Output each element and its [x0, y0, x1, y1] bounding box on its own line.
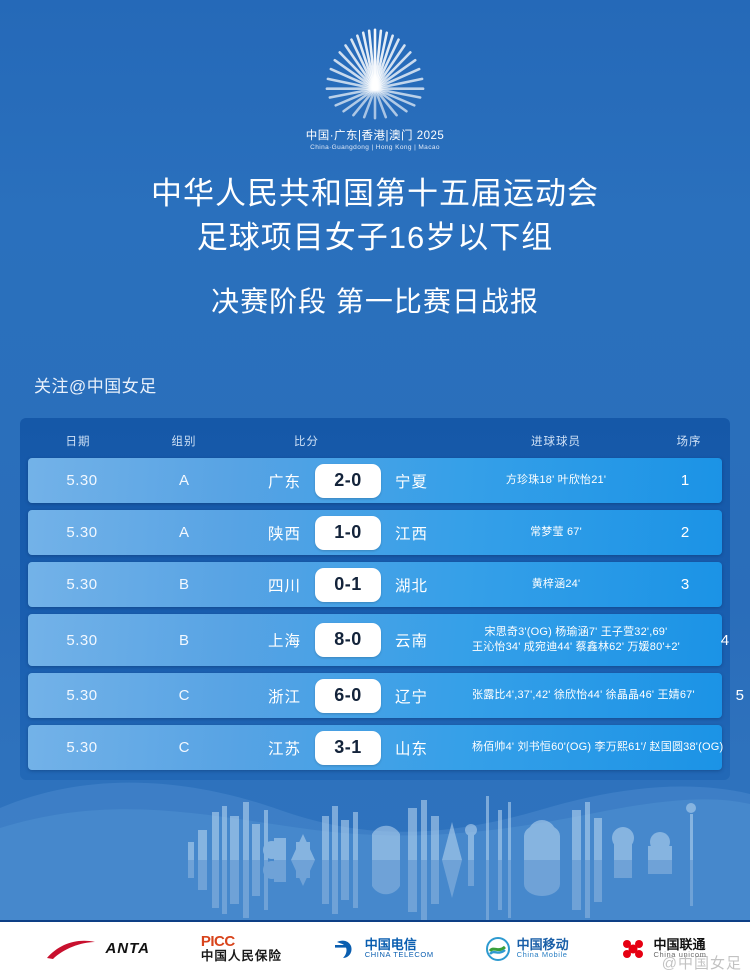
sponsor-bar: ANTA PICC 中国人民保险 中国电信 CHINA TELECOM — [0, 920, 750, 975]
scorer-line: 黄梓涵24' — [472, 577, 640, 592]
fan-burst-emblem-icon — [316, 18, 434, 126]
away-team: 辽宁 — [381, 685, 457, 707]
cell-date: 5.30 — [28, 632, 136, 649]
score-pill: 8-0 — [315, 623, 381, 657]
cell-group: B — [136, 632, 232, 649]
cell-date: 5.30 — [28, 687, 136, 704]
title-line-1: 中华人民共和国第十五届运动会 — [0, 172, 750, 216]
cell-date: 5.30 — [28, 472, 136, 489]
china-unicom-logo-icon — [619, 936, 647, 962]
table-row[interactable]: 5.30 C 江苏 3-1 山东 杨佰帅4' 刘书恒60'(OG) 李万熙61'… — [28, 725, 722, 770]
sponsor-picc: PICC 中国人民保险 — [201, 934, 282, 963]
header-group: 组别 — [136, 433, 232, 449]
cell-order: 1 — [648, 472, 722, 489]
poster-root: 中国·广东|香港|澳门 2025 China·Guangdong | Hong … — [0, 0, 750, 975]
cell-order: 6 — [731, 739, 750, 756]
sponsor-china-mobile: 中国移动 China Mobile — [485, 936, 569, 962]
cell-players: 黄梓涵24' — [464, 577, 648, 592]
home-team: 四川 — [239, 574, 315, 596]
scorer-line: 方珍珠18' 叶欣怡21' — [472, 473, 640, 488]
score-pill: 0-1 — [315, 568, 381, 602]
sponsor-china-telecom: 中国电信 CHINA TELECOM — [333, 936, 434, 962]
table-body: 5.30 A 广东 2-0 宁夏 方珍珠18' 叶欣怡21' 1 5.30 A … — [20, 458, 730, 770]
cell-date: 5.30 — [28, 576, 136, 593]
away-team: 宁夏 — [381, 470, 457, 492]
title-line-2: 足球项目女子16岁以下组 — [0, 216, 750, 260]
table-row[interactable]: 5.30 B 四川 0-1 湖北 黄梓涵24' 3 — [28, 562, 722, 607]
results-panel: 日期 组别 比分 进球球员 场序 5.30 A 广东 2-0 宁夏 方珍珠18'… — [20, 418, 730, 780]
cell-group: C — [136, 739, 232, 756]
cell-group: B — [136, 576, 232, 593]
emblem-cn-text: 中国·广东|香港|澳门 2025 — [306, 127, 445, 143]
cell-players: 常梦莹 67' — [464, 525, 648, 540]
sponsor-picc-label: 中国人民保险 — [201, 950, 282, 963]
cell-score: 四川 0-1 湖北 — [232, 568, 464, 602]
sponsor-unicom-en: China unicom — [653, 951, 706, 959]
cell-score: 浙江 6-0 辽宁 — [232, 679, 464, 713]
score-pill: 2-0 — [315, 464, 381, 498]
scorer-line: 王沁怡34' 成宛迪44' 蔡鑫林62' 万媛80'+2' — [472, 640, 680, 655]
score-pill: 6-0 — [315, 679, 381, 713]
follow-handle: 关注@中国女足 — [34, 372, 157, 397]
table-row[interactable]: 5.30 C 浙江 6-0 辽宁 张露比4',37',42' 徐欣怡44' 徐晶… — [28, 673, 722, 718]
sponsor-anta: ANTA — [43, 936, 150, 962]
cell-score: 上海 8-0 云南 — [232, 623, 464, 657]
anta-logo-icon — [43, 936, 99, 962]
emblem-en-text: China·Guangdong | Hong Kong | Macao — [310, 144, 440, 151]
cell-group: A — [136, 524, 232, 541]
home-team: 浙江 — [239, 685, 315, 707]
cell-score: 陕西 1-0 江西 — [232, 516, 464, 550]
header-date: 日期 — [20, 433, 136, 449]
cell-players: 宋思奇3'(OG) 杨瑜涵7' 王子萱32',69' 王沁怡34' 成宛迪44'… — [464, 625, 688, 655]
header-score: 比分 — [232, 433, 464, 449]
games-emblem: 中国·广东|香港|澳门 2025 China·Guangdong | Hong … — [0, 18, 750, 151]
scorer-line: 常梦莹 67' — [472, 525, 640, 540]
home-team: 上海 — [239, 629, 315, 651]
score-pill: 1-0 — [315, 516, 381, 550]
table-row[interactable]: 5.30 A 广东 2-0 宁夏 方珍珠18' 叶欣怡21' 1 — [28, 458, 722, 503]
sponsor-telecom-cn: 中国电信 — [365, 938, 434, 952]
away-team: 湖北 — [381, 574, 457, 596]
cell-date: 5.30 — [28, 739, 136, 756]
sponsor-mobile-en: China Mobile — [517, 951, 569, 959]
away-team: 江西 — [381, 522, 457, 544]
home-team: 陕西 — [239, 522, 315, 544]
table-header-row: 日期 组别 比分 进球球员 场序 — [20, 424, 730, 458]
cell-group: C — [136, 687, 232, 704]
sponsor-unicom-cn: 中国联通 — [653, 938, 706, 952]
picc-logo-icon: PICC — [201, 934, 282, 950]
scorer-line: 张露比4',37',42' 徐欣怡44' 徐晶晶46' 王婧67' — [472, 688, 695, 703]
cell-players: 张露比4',37',42' 徐欣怡44' 徐晶晶46' 王婧67' — [464, 688, 703, 703]
cell-score: 广东 2-0 宁夏 — [232, 464, 464, 498]
home-team: 广东 — [239, 470, 315, 492]
home-team: 江苏 — [239, 737, 315, 759]
china-telecom-logo-icon — [333, 936, 359, 962]
scorer-line: 宋思奇3'(OG) 杨瑜涵7' 王子萱32',69' — [472, 625, 680, 640]
cell-score: 江苏 3-1 山东 — [232, 731, 464, 765]
table-row[interactable]: 5.30 A 陕西 1-0 江西 常梦莹 67' 2 — [28, 510, 722, 555]
cell-order: 2 — [648, 524, 722, 541]
sponsor-telecom-en: CHINA TELECOM — [365, 951, 434, 959]
sponsor-mobile-cn: 中国移动 — [517, 938, 569, 952]
header-players: 进球球员 — [464, 433, 648, 449]
china-mobile-logo-icon — [485, 936, 511, 962]
poster-subtitle: 决赛阶段 第一比赛日战报 — [0, 282, 750, 322]
header-order: 场序 — [648, 433, 730, 449]
cell-group: A — [136, 472, 232, 489]
cell-order: 5 — [703, 687, 750, 704]
cell-date: 5.30 — [28, 524, 136, 541]
sponsor-china-unicom: 中国联通 China unicom — [619, 936, 706, 962]
poster-titles: 中华人民共和国第十五届运动会 足球项目女子16岁以下组 决赛阶段 第一比赛日战报 — [0, 172, 750, 322]
away-team: 云南 — [381, 629, 457, 651]
score-pill: 3-1 — [315, 731, 381, 765]
cell-players: 方珍珠18' 叶欣怡21' — [464, 473, 648, 488]
table-row[interactable]: 5.30 B 上海 8-0 云南 宋思奇3'(OG) 杨瑜涵7' 王子萱32',… — [28, 614, 722, 666]
cell-players: 杨佰帅4' 刘书恒60'(OG) 李万熙61'/ 赵国圆38'(OG) — [464, 740, 731, 755]
away-team: 山东 — [381, 737, 457, 759]
cell-order: 4 — [688, 632, 750, 649]
cell-order: 3 — [648, 576, 722, 593]
sponsor-anta-label: ANTA — [105, 940, 150, 957]
scorer-line: 杨佰帅4' 刘书恒60'(OG) 李万熙61'/ 赵国圆38'(OG) — [472, 740, 723, 755]
